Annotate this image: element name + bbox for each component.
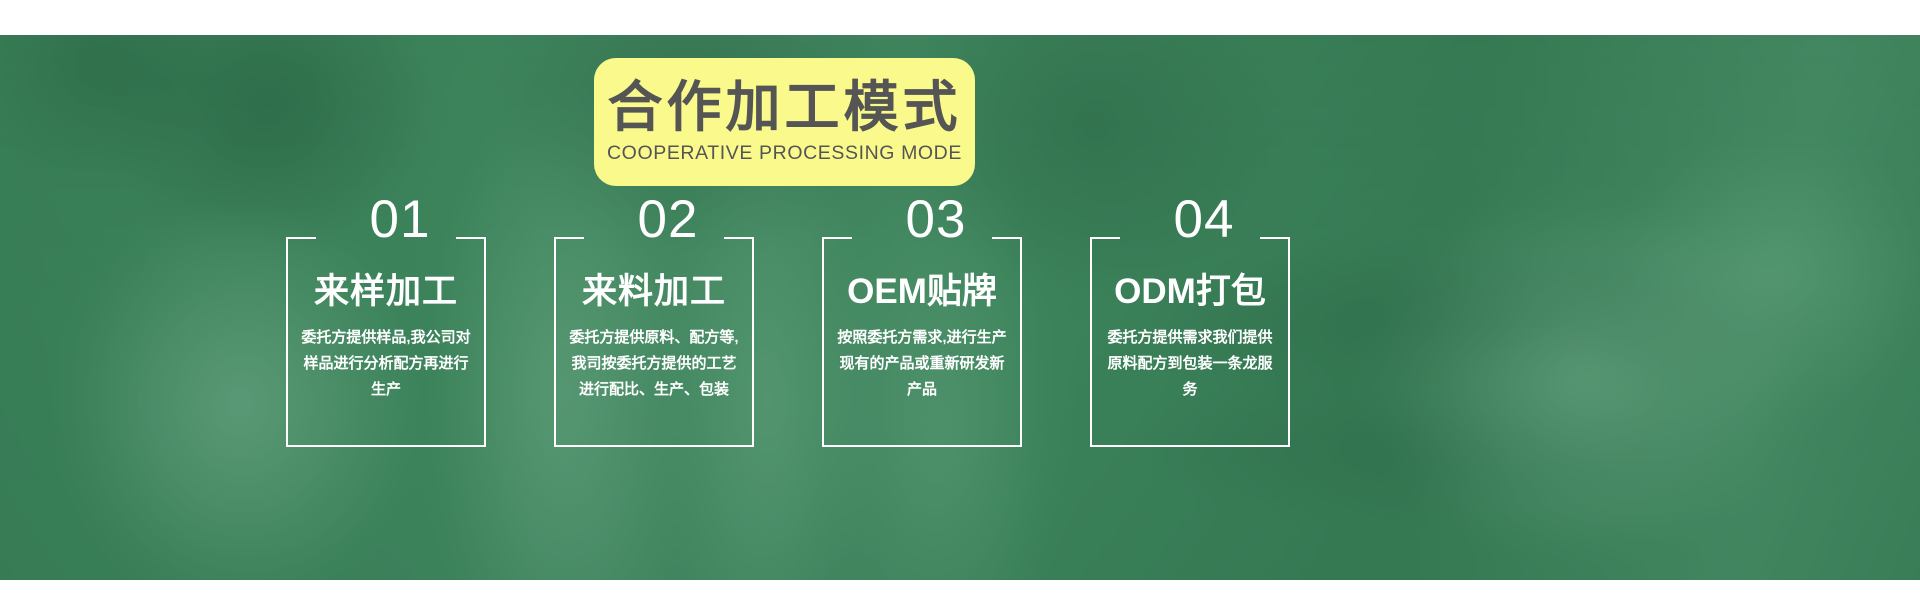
card-title: ODM打包 [1074,273,1306,312]
card-title: 来样加工 [270,273,502,312]
page-title: 合作加工模式 [607,79,961,137]
cooperative-processing-banner: 合作加工模式 COOPERATIVE PROCESSING MODE 01 来样… [0,0,1920,614]
process-card-01[interactable]: 01 来样加工 委托方提供样品,我公司对样品进行分析配方再进行生产 [286,237,486,447]
page-subtitle: COOPERATIVE PROCESSING MODE [607,142,962,165]
card-description: 委托方提供原料、配方等,我司按委托方提供的工艺进行配比、生产、包装 [566,325,742,402]
card-description: 委托方提供样品,我公司对样品进行分析配方再进行生产 [298,325,474,402]
card-number: 02 [568,193,768,246]
card-description: 按照委托方需求,进行生产现有的产品或重新研发新产品 [834,325,1010,402]
title-plaque: 合作加工模式 COOPERATIVE PROCESSING MODE [594,58,975,186]
process-card-04[interactable]: 04 ODM打包 委托方提供需求我们提供原料配方到包装一条龙服务 [1090,237,1290,447]
card-title: 来料加工 [538,273,770,312]
card-number: 03 [836,193,1036,246]
process-card-list: 01 来样加工 委托方提供样品,我公司对样品进行分析配方再进行生产 02 来料加… [286,237,1636,447]
card-description: 委托方提供需求我们提供原料配方到包装一条龙服务 [1102,325,1278,402]
card-title: OEM贴牌 [806,273,1038,312]
process-card-03[interactable]: 03 OEM贴牌 按照委托方需求,进行生产现有的产品或重新研发新产品 [822,237,1022,447]
card-number: 04 [1104,193,1304,246]
card-number: 01 [300,193,500,246]
process-card-02[interactable]: 02 来料加工 委托方提供原料、配方等,我司按委托方提供的工艺进行配比、生产、包… [554,237,754,447]
